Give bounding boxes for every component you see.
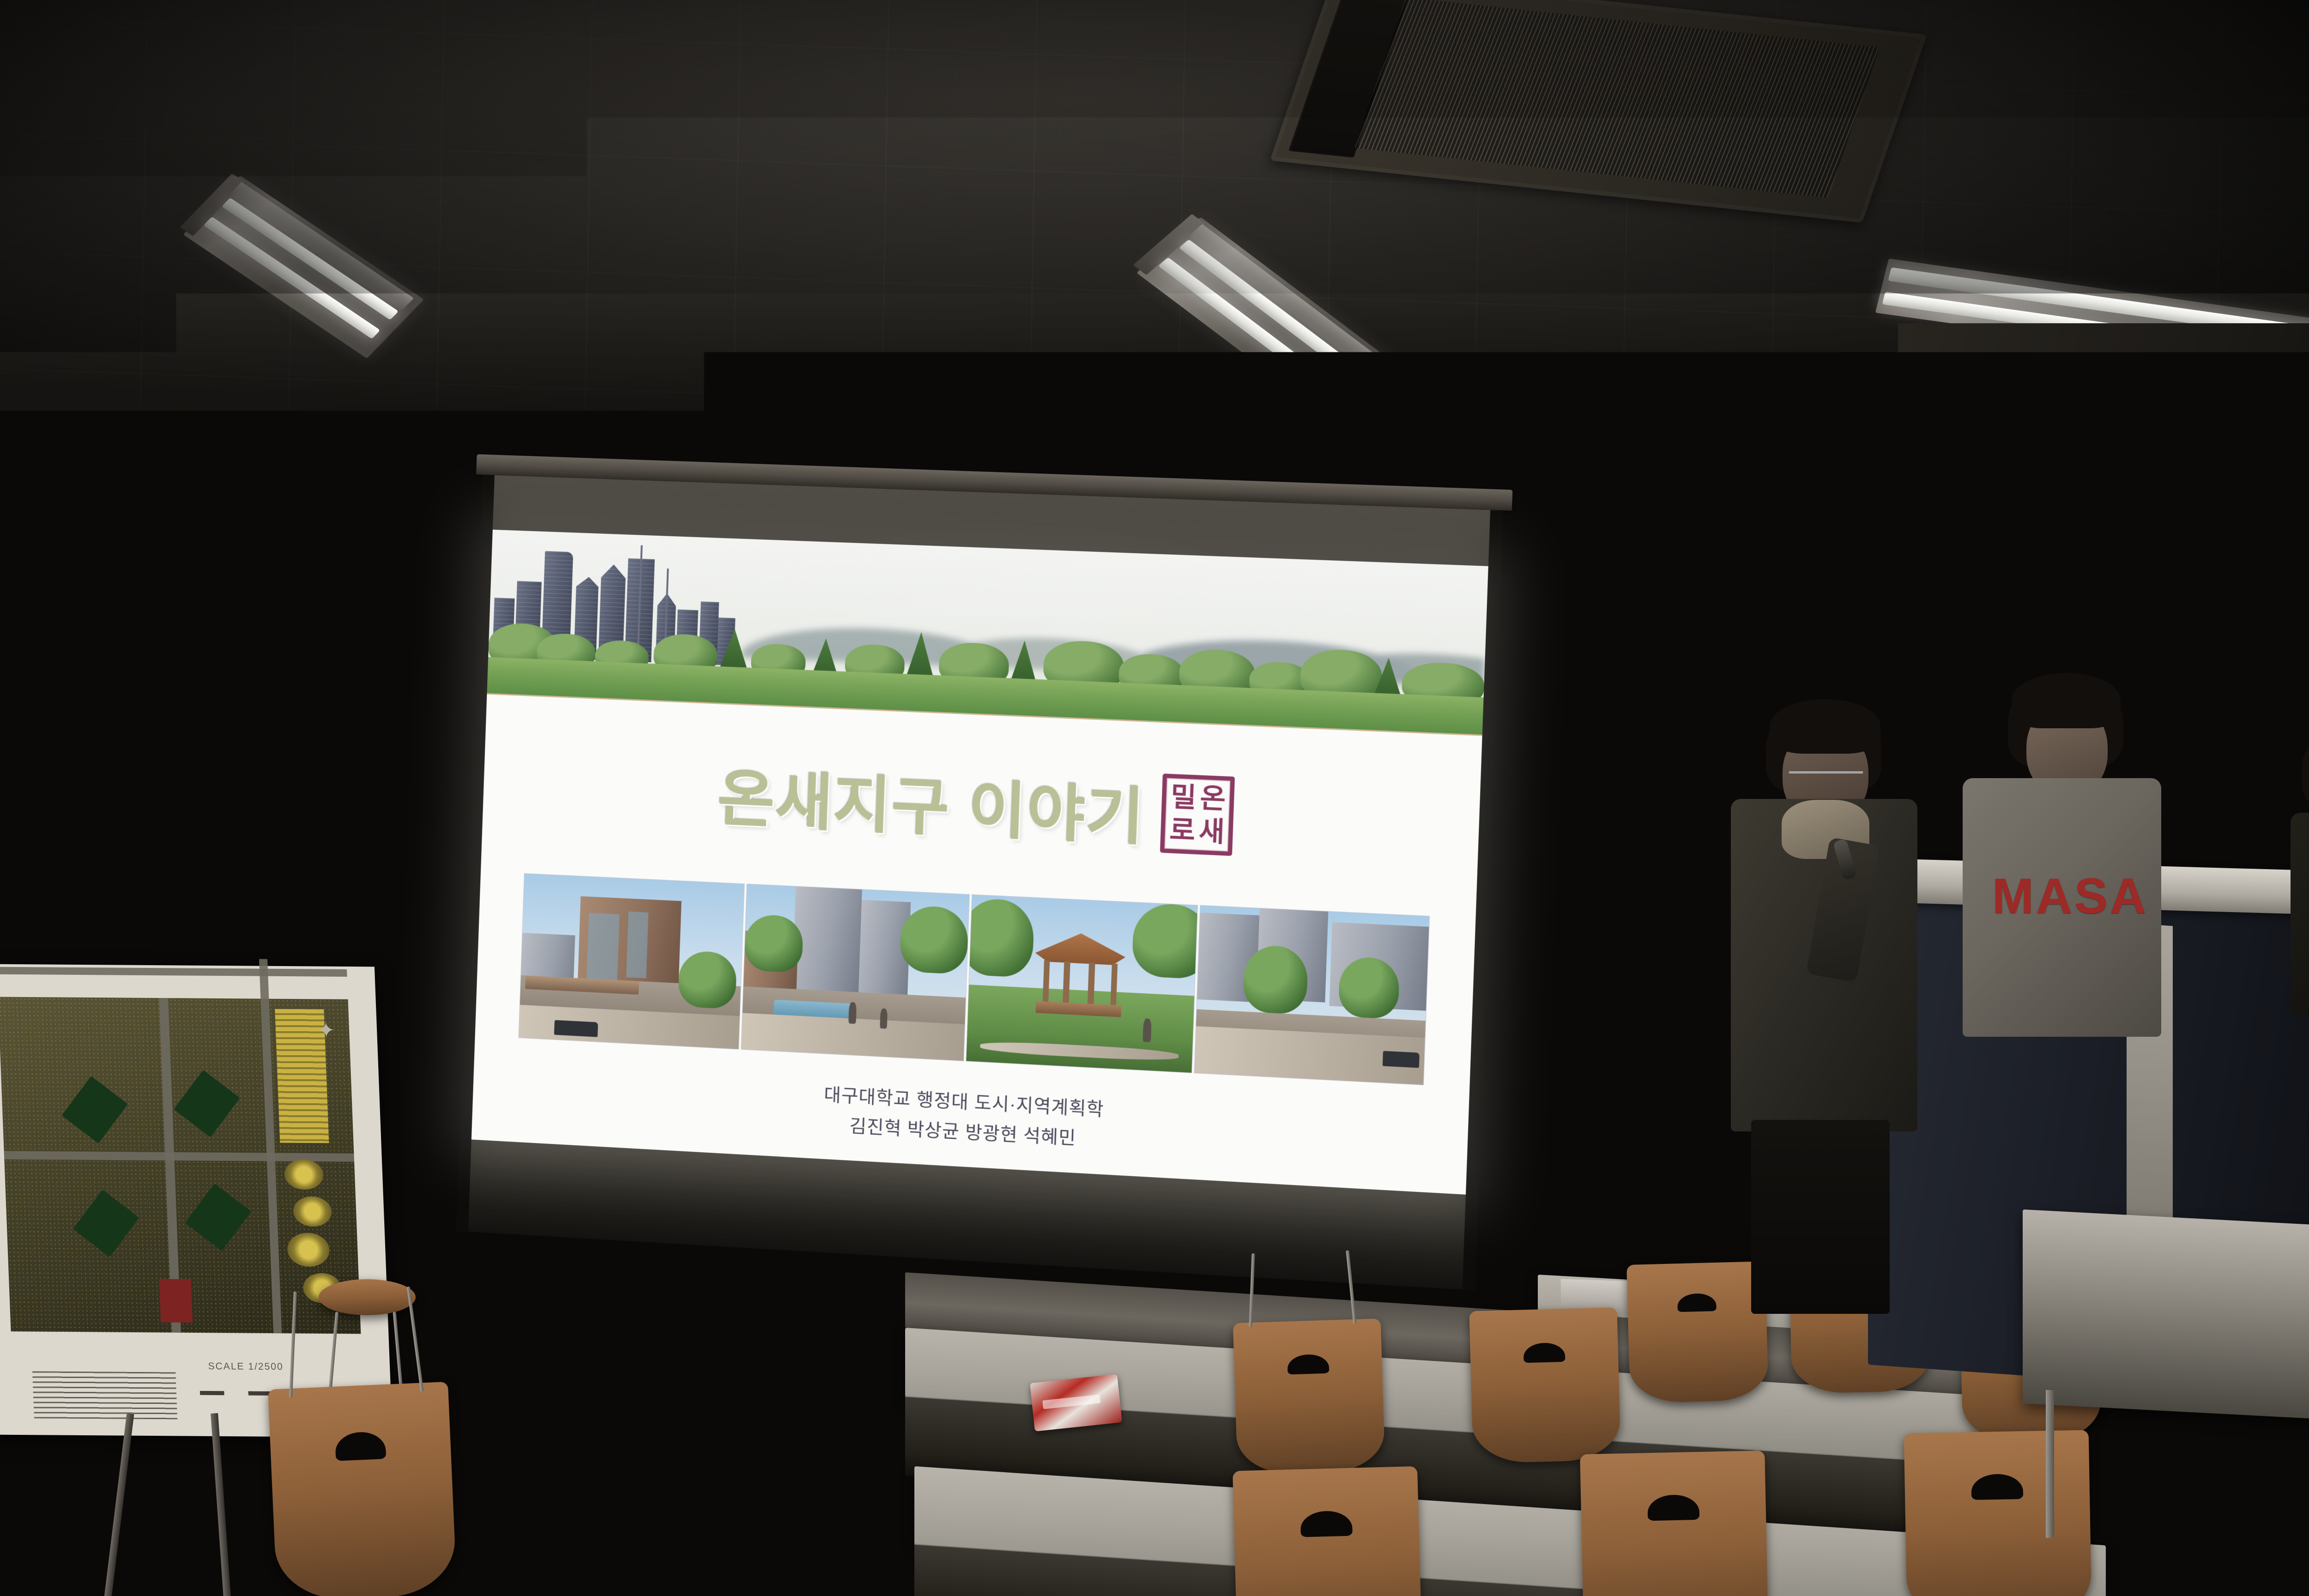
pedestrian [880, 1009, 888, 1029]
lecture-chair[interactable] [1580, 1451, 1769, 1596]
projection-screen[interactable]: 온새지구 이야기 밀 온 로 새 [456, 475, 1503, 1290]
photo-campus-building-with-pedestrian-bridge [519, 873, 745, 1050]
hoodie-graphic-text: MASA [1992, 867, 2148, 925]
side-table[interactable] [2023, 1209, 2309, 1423]
presenter-with-microphone [1727, 702, 1921, 1312]
lecture-chair[interactable] [1904, 1430, 2092, 1596]
seal-char-3: 로 [1167, 813, 1197, 847]
car [1382, 1051, 1420, 1068]
lecture-chair[interactable] [1469, 1307, 1621, 1463]
visitor [1143, 1018, 1152, 1042]
status-led-indicator [1934, 586, 1940, 592]
chair-backrest [593, 1371, 785, 1594]
wall-conduit [1917, 545, 1921, 720]
window-glass [586, 913, 620, 987]
chair-backrest [1904, 1430, 2092, 1596]
hair [2302, 730, 2309, 807]
photo-lawn [966, 985, 1194, 1073]
seal-char-4: 새 [1197, 815, 1227, 849]
chair-backrest [1580, 1451, 1769, 1596]
room-shell: 온새지구 이야기 밀 온 로 새 [0, 0, 2309, 1596]
land-use-plan-drawing: ✦ [0, 997, 361, 1334]
student-in-white-hoodie: MASA [1963, 677, 2161, 1037]
chair-backrest [1233, 1318, 1385, 1475]
legs [1751, 1120, 1890, 1314]
pedestrian [849, 1002, 857, 1024]
arterial-road [0, 967, 347, 977]
slide-title: 온새지구 이야기 [717, 749, 1147, 858]
hair-fringe [1770, 699, 1880, 754]
side-table-leg [2046, 1390, 2054, 1538]
seal-char-2: 온 [1197, 781, 1228, 816]
seal-char-1: 밀 [1168, 780, 1199, 815]
snack-bag-on-desk[interactable] [1030, 1374, 1122, 1431]
projected-slide: 온새지구 이야기 밀 온 로 새 [471, 530, 1488, 1195]
car [554, 1020, 598, 1037]
compass-rose-icon: ✦ [317, 1019, 335, 1040]
lecture-chair[interactable] [1233, 1466, 1422, 1596]
scale-label: SCALE 1/2500 [208, 1361, 284, 1372]
wall-speaker-device[interactable] [1930, 530, 1974, 600]
hair-fringe [2012, 673, 2121, 728]
civic-facility-block [159, 1279, 193, 1323]
photo-townhouse-street-plaza [1194, 905, 1430, 1085]
dark-clothing [2291, 813, 2309, 1016]
apartment-tower [792, 887, 862, 992]
seal-stamp: 밀 온 로 새 [1160, 774, 1235, 856]
stool-seat [319, 1279, 416, 1315]
stool[interactable] [319, 1279, 416, 1315]
window-glass [626, 912, 648, 979]
chair-backrest [1469, 1307, 1621, 1463]
lecture-chair[interactable] [1233, 1318, 1385, 1475]
eyeglasses [1789, 771, 1863, 778]
third-person-by-curtain [2291, 730, 2309, 1016]
lecture-chair[interactable] [593, 1371, 785, 1594]
photo-apartment-complex-with-water-feature [741, 884, 970, 1062]
chair-backrest [268, 1382, 457, 1596]
classroom-photo: 온새지구 이야기 밀 온 로 새 [0, 0, 2309, 1596]
lecture-chair[interactable] [268, 1382, 457, 1596]
photo-park-gazebo-pavilion [966, 895, 1198, 1073]
plan-legend [32, 1372, 177, 1420]
